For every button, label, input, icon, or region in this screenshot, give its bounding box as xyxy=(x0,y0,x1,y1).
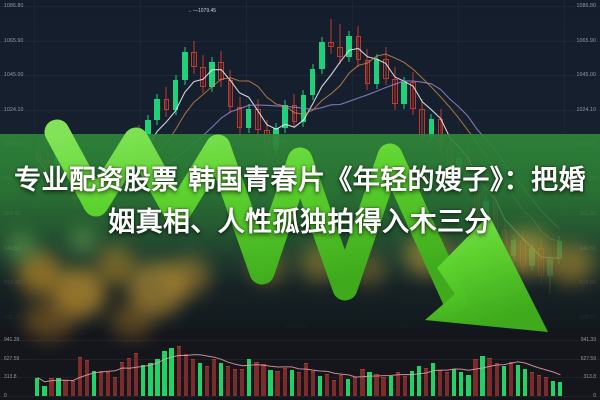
headline-line-2: 姻真相、人性孤独拍得入木三分 xyxy=(0,202,600,244)
screenshot-root: 1086.801065.901045.001024.101003.20982.3… xyxy=(0,0,600,400)
headline-text: 专业配资股票 韩国青春片《年轻的嫂子》：把婚 姻真相、人性孤独拍得入木三分 xyxy=(0,160,600,244)
headline-line-1: 专业配资股票 韩国青春片《年轻的嫂子》：把婚 xyxy=(0,160,600,202)
